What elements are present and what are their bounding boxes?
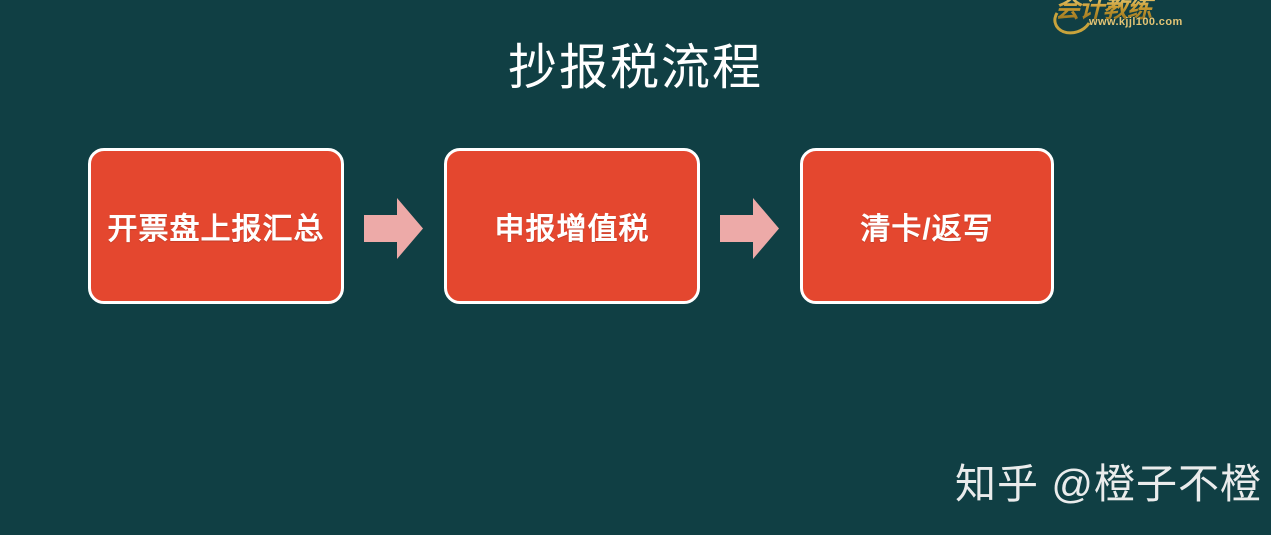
slide-canvas: 会计教练 www.kjjl100.com 抄报税流程 开票盘上报汇总 申报增值税… [0,0,1271,535]
flow-node-3-label: 清卡/返写 [860,204,993,248]
flow-node-2-label: 申报增值税 [495,204,650,248]
brand-logo: 会计教练 www.kjjl100.com [1055,0,1195,34]
watermark-text: 知乎 @橙子不橙 [955,458,1262,510]
arrow-right-icon-2 [720,198,779,259]
flow-node-1-label: 开票盘上报汇总 [108,204,325,248]
logo-url-text: www.kjjl100.com [1089,16,1183,28]
flow-node-2[interactable]: 申报增值税 [444,148,700,304]
arrow-right-icon-1 [364,198,423,259]
page-title: 抄报税流程 [0,38,1271,98]
process-flow-diagram: 开票盘上报汇总 申报增值税 清卡/返写 [88,148,1054,304]
flow-node-3[interactable]: 清卡/返写 [800,148,1054,304]
flow-node-1[interactable]: 开票盘上报汇总 [88,148,344,304]
